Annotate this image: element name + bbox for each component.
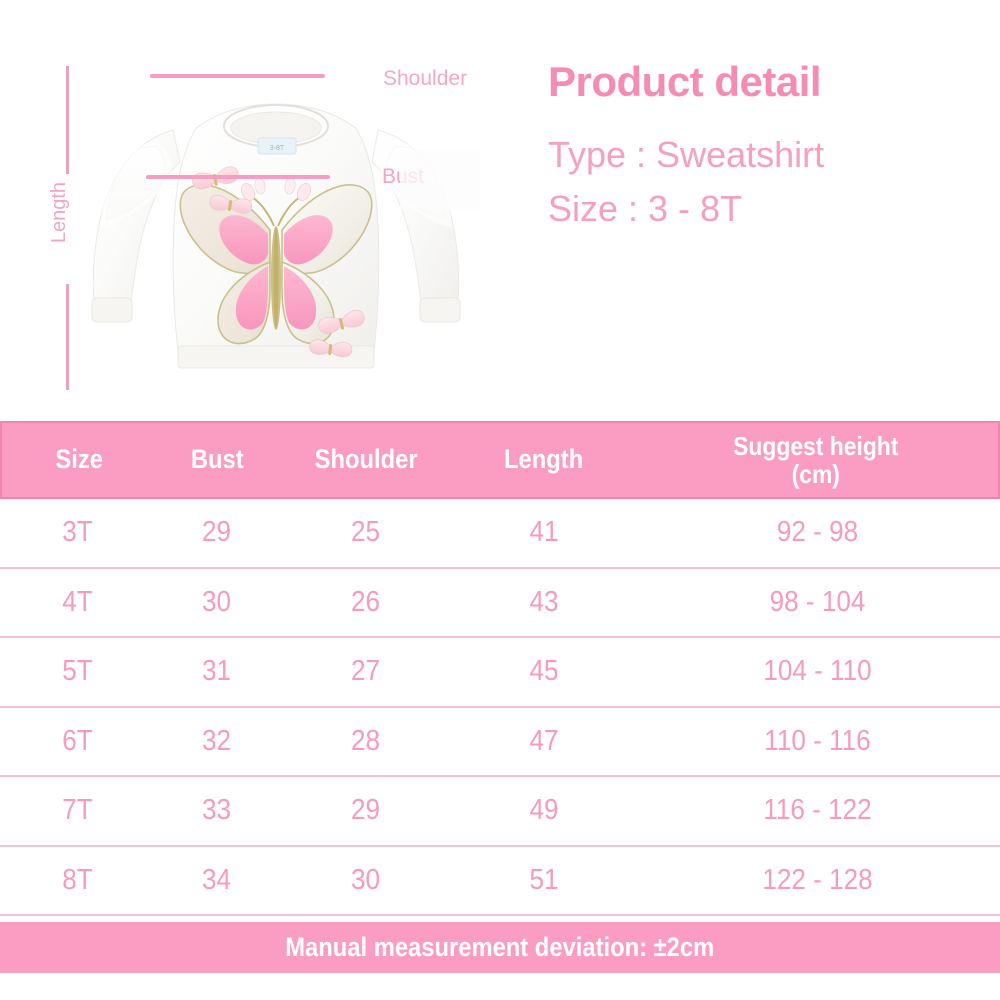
product-detail-block: Product detail Type : Sweatshirt Size : … — [548, 58, 978, 236]
table-row: 7T 33 29 49 116 - 122 — [0, 777, 1000, 847]
cell-bust: 33 — [161, 794, 272, 827]
size-chart-page: 3-8T — [0, 0, 1000, 1000]
cell-shoulder: 30 — [287, 864, 445, 897]
svg-text:3-8T: 3-8T — [270, 145, 285, 152]
cell-size: 6T — [8, 725, 148, 758]
cell-height: 92 - 98 — [653, 516, 982, 549]
cell-bust: 31 — [161, 655, 272, 688]
cell-height: 122 - 128 — [653, 864, 982, 897]
cell-height: 104 - 110 — [653, 655, 982, 688]
column-header-length: Length — [464, 445, 624, 474]
product-detail-title: Product detail — [548, 58, 978, 106]
cell-length: 45 — [462, 655, 626, 688]
size-table-footer: Manual measurement deviation: ±2cm — [0, 922, 1000, 973]
column-header-suggest-height: Suggest height (cm) — [656, 432, 976, 488]
length-label: Length — [48, 182, 71, 243]
cell-size: 4T — [8, 586, 148, 619]
cell-length: 51 — [462, 864, 626, 897]
cell-size: 3T — [8, 516, 148, 549]
cell-shoulder: 26 — [287, 586, 445, 619]
cell-height: 116 - 122 — [653, 794, 982, 827]
cell-length: 41 — [462, 516, 626, 549]
column-header-bust: Bust — [164, 445, 272, 474]
cell-shoulder: 25 — [287, 516, 445, 549]
cell-length: 43 — [462, 586, 626, 619]
shoulder-label: Shoulder — [383, 67, 467, 91]
column-header-suggest-height-main: Suggest height — [656, 432, 976, 460]
cell-bust: 34 — [161, 864, 272, 897]
table-row: 4T 30 26 43 98 - 104 — [0, 569, 1000, 639]
column-header-suggest-height-unit: (cm) — [656, 460, 976, 488]
cell-size: 7T — [8, 794, 148, 827]
cell-bust: 30 — [161, 586, 272, 619]
table-row: 3T 29 25 41 92 - 98 — [0, 499, 1000, 569]
column-header-shoulder: Shoulder — [289, 445, 442, 474]
column-header-size: Size — [11, 445, 147, 474]
cell-length: 49 — [462, 794, 626, 827]
product-photo-area: 3-8T — [0, 0, 1000, 420]
table-row: 8T 34 30 51 122 - 128 — [0, 847, 1000, 917]
cell-height: 98 - 104 — [653, 586, 982, 619]
measurement-deviation-note: Manual measurement deviation: ±2cm — [286, 932, 715, 963]
bust-measure-line — [146, 175, 330, 179]
product-type-row: Type : Sweatshirt — [548, 128, 978, 182]
cell-bust: 32 — [161, 725, 272, 758]
cell-shoulder: 27 — [287, 655, 445, 688]
size-table: Size Bust Shoulder Length Suggest height… — [0, 421, 1000, 973]
size-table-header-row: Size Bust Shoulder Length Suggest height… — [0, 421, 1000, 499]
cell-shoulder: 29 — [287, 794, 445, 827]
cell-bust: 29 — [161, 516, 272, 549]
cell-height: 110 - 116 — [653, 725, 982, 758]
table-row: 5T 31 27 45 104 - 110 — [0, 638, 1000, 708]
cell-shoulder: 28 — [287, 725, 445, 758]
bust-label: Bust — [382, 165, 424, 189]
cell-size: 8T — [8, 864, 148, 897]
product-size-row: Size : 3 - 8T — [548, 182, 978, 236]
sweatshirt-image: 3-8T — [78, 88, 478, 388]
cell-size: 5T — [8, 655, 148, 688]
cell-length: 47 — [462, 725, 626, 758]
shoulder-measure-line — [150, 74, 325, 78]
table-row: 6T 32 28 47 110 - 116 — [0, 708, 1000, 778]
